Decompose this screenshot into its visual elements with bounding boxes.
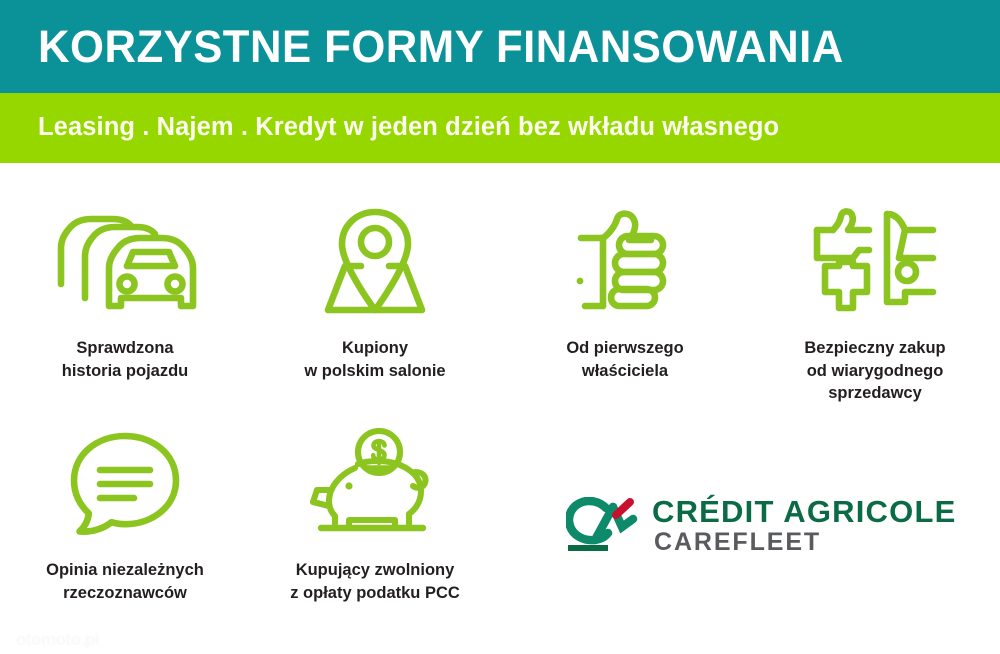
feature-label: Opinia niezależnych rzeczoznawców <box>46 559 204 604</box>
subtitle-band: Leasing . Najem . Kredyt w jeden dzień b… <box>0 93 1000 163</box>
title-band: KORZYSTNE FORMY FINANSOWANIA <box>0 0 1000 93</box>
credit-agricole-ca-monogram-icon <box>566 497 638 558</box>
map-pin-icon <box>315 196 435 318</box>
car-stack-icon <box>51 196 199 318</box>
feature-label: Kupujący zwolniony z opłaty podatku PCC <box>290 559 460 604</box>
logo-line-1: CRÉDIT AGRICOLE <box>652 496 956 528</box>
trusted-seller-icon <box>809 196 941 318</box>
logo-wordmark: CRÉDIT AGRICOLE CAREFLEET <box>652 496 956 559</box>
credit-agricole-logo: CRÉDIT AGRICOLE CAREFLEET <box>566 492 956 562</box>
feature-label: Kupiony w polskim salonie <box>304 337 445 382</box>
feature-item-first-owner: Od pierwszego właściciela <box>500 196 750 416</box>
logo-line-2: CAREFLEET <box>654 527 956 558</box>
feature-item-vehicle-history: Sprawdzona historia pojazdu <box>0 196 250 416</box>
feature-label: Od pierwszego właściciela <box>566 337 683 382</box>
thumbs-up-icon <box>563 196 687 318</box>
feature-item-polish-dealer: Kupiony w polskim salonie <box>250 196 500 416</box>
watermark: otomoto.pl <box>16 630 99 650</box>
piggy-bank-icon <box>309 418 441 540</box>
page-subtitle: Leasing . Najem . Kredyt w jeden dzień b… <box>38 115 779 141</box>
feature-item-pcc-exempt: Kupujący zwolniony z opłaty podatku PCC <box>250 418 500 628</box>
feature-label: Bezpieczny zakup od wiarygodnego sprzeda… <box>804 337 945 405</box>
feature-item-trusted-seller: Bezpieczny zakup od wiarygodnego sprzeda… <box>750 196 1000 416</box>
page-title: KORZYSTNE FORMY FINANSOWANIA <box>38 24 844 69</box>
feature-label: Sprawdzona historia pojazdu <box>62 337 189 382</box>
promo-banner: KORZYSTNE FORMY FINANSOWANIA Leasing . N… <box>0 0 1000 654</box>
feature-item-expert-opinion: Opinia niezależnych rzeczoznawców <box>0 418 250 628</box>
speech-bubble-icon <box>66 418 184 540</box>
feature-row-1: Sprawdzona historia pojazdu Kupiony w po… <box>0 196 1000 416</box>
